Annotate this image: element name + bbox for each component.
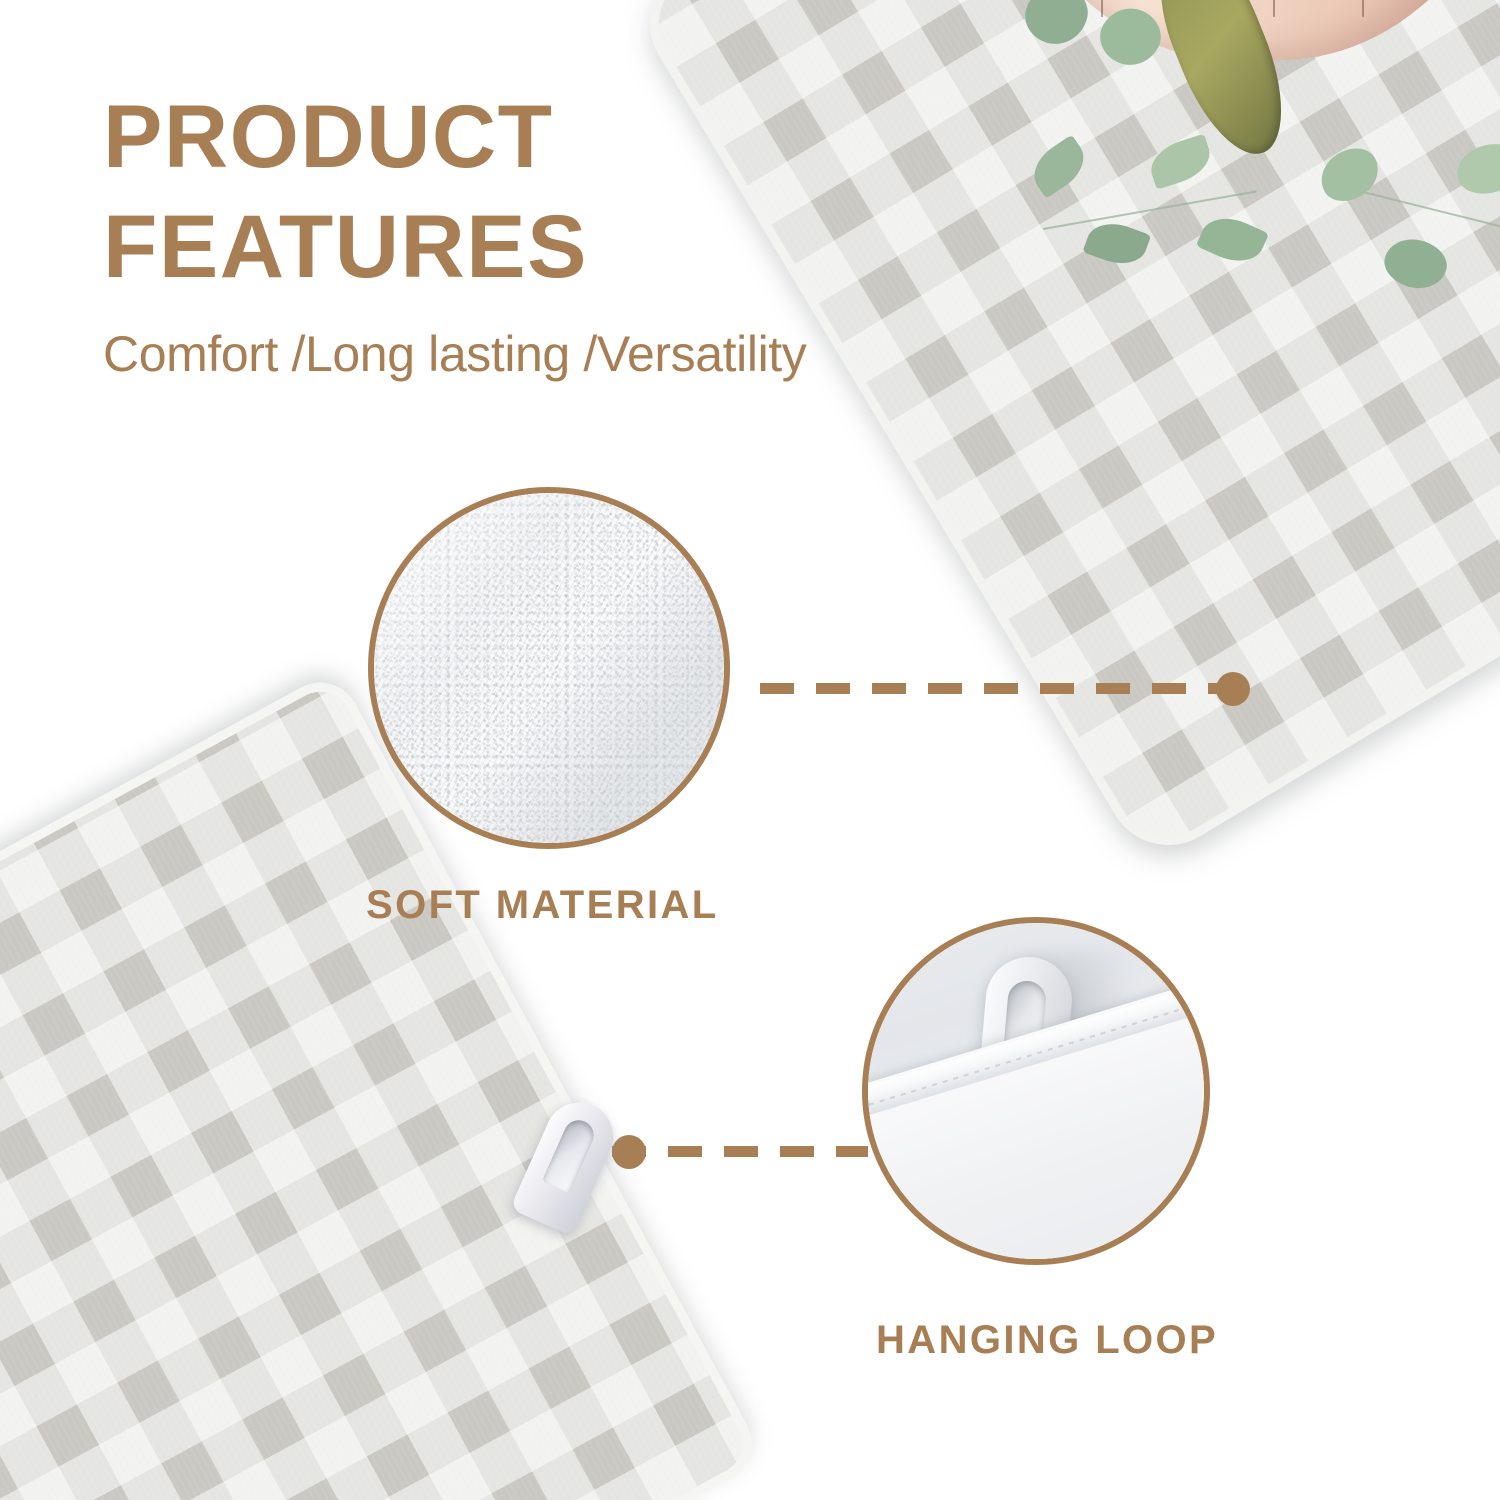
infographic-canvas: PRODUCT FEATURES Comfort /Long lasting /… xyxy=(0,0,1500,1500)
title-line-1: PRODUCT xyxy=(103,92,883,180)
title-line-2: FEATURES xyxy=(103,202,883,290)
connector-endpoint-dot xyxy=(612,1135,646,1169)
terry-cloth-texture-icon xyxy=(374,493,724,843)
subtitle: Comfort /Long lasting /Versatility xyxy=(103,328,883,381)
connector-line xyxy=(612,1146,868,1157)
dashed-connector-icon xyxy=(612,1146,868,1157)
callout-circle-hanging-loop xyxy=(862,917,1210,1265)
loop-macro-photo xyxy=(868,923,1204,1259)
fabric-shading xyxy=(374,493,724,843)
callout-label-soft-material: SOFT MATERIAL xyxy=(366,883,719,928)
page-title: PRODUCT FEATURES Comfort /Long lasting /… xyxy=(103,92,883,381)
callout-circle-soft-material xyxy=(368,487,730,849)
dashed-connector-icon xyxy=(760,683,1250,694)
connector-line xyxy=(760,683,1250,694)
connector-endpoint-dot xyxy=(1216,672,1250,706)
fabric-hanging-loop-icon xyxy=(868,923,1204,1259)
callout-label-hanging-loop: HANGING LOOP xyxy=(876,1318,1218,1363)
